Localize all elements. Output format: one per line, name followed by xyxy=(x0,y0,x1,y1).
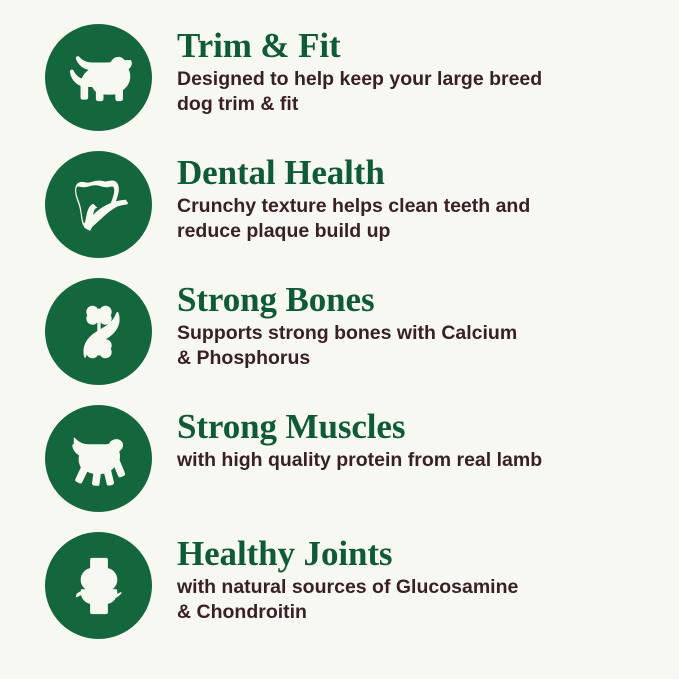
benefit-body: Supports strong bones with Calcium & Pho… xyxy=(177,321,647,371)
benefit-body-line: dog trim & fit xyxy=(177,92,647,117)
benefit-row-healthy-joints: Healthy Joints with natural sources of G… xyxy=(0,530,679,657)
benefit-list: Trim & Fit Designed to help keep your la… xyxy=(0,0,679,679)
benefit-row-trim-and-fit: Trim & Fit Designed to help keep your la… xyxy=(0,22,679,149)
bone-ribbon-icon xyxy=(45,278,152,385)
benefit-heading: Strong Bones xyxy=(177,282,679,318)
benefit-text-block: Strong Bones Supports strong bones with … xyxy=(152,276,679,371)
dog-walking-icon xyxy=(45,405,152,512)
dog-standing-icon xyxy=(45,24,152,131)
benefit-heading: Healthy Joints xyxy=(177,536,679,572)
benefit-heading: Dental Health xyxy=(177,155,679,191)
benefit-body: with natural sources of Glucosamine & Ch… xyxy=(177,575,647,625)
joint-bones-icon xyxy=(45,532,152,639)
benefit-body-line: Supports strong bones with Calcium xyxy=(177,321,647,346)
benefit-text-block: Strong Muscles with high quality protein… xyxy=(152,403,679,473)
tooth-sparkle-icon xyxy=(45,151,152,258)
benefit-body-line: Crunchy texture helps clean teeth and xyxy=(177,194,647,219)
benefit-row-strong-bones: Strong Bones Supports strong bones with … xyxy=(0,276,679,403)
benefit-body-line: reduce plaque build up xyxy=(177,219,647,244)
benefit-text-block: Dental Health Crunchy texture helps clea… xyxy=(152,149,679,244)
benefit-heading: Trim & Fit xyxy=(177,28,679,64)
benefit-body: Crunchy texture helps clean teeth and re… xyxy=(177,194,647,244)
benefit-body-line: with high quality protein from real lamb xyxy=(177,448,647,473)
benefit-row-dental-health: Dental Health Crunchy texture helps clea… xyxy=(0,149,679,276)
benefit-body-line: with natural sources of Glucosamine xyxy=(177,575,647,600)
benefit-text-block: Healthy Joints with natural sources of G… xyxy=(152,530,679,625)
benefit-body-line: & Phosphorus xyxy=(177,346,647,371)
benefit-row-strong-muscles: Strong Muscles with high quality protein… xyxy=(0,403,679,530)
benefit-body-line: Designed to help keep your large breed xyxy=(177,67,647,92)
benefit-body: with high quality protein from real lamb xyxy=(177,448,647,473)
benefit-body: Designed to help keep your large breed d… xyxy=(177,67,647,117)
benefit-heading: Strong Muscles xyxy=(177,409,679,445)
benefit-text-block: Trim & Fit Designed to help keep your la… xyxy=(152,22,679,117)
benefit-body-line: & Chondroitin xyxy=(177,600,647,625)
